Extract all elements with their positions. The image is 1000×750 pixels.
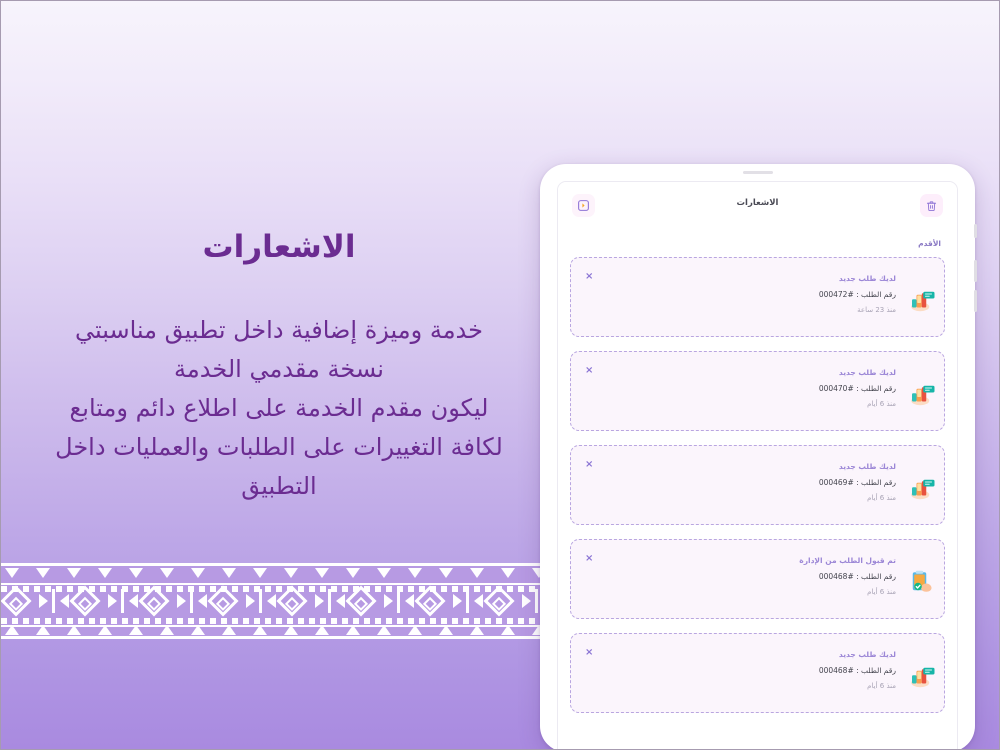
notification-timestamp: منذ 6 أيام: [611, 400, 896, 408]
band-bar: [190, 589, 193, 613]
notification-order-number: رقم الطلب : #000470: [611, 384, 896, 393]
approved-order-art-icon: [906, 567, 936, 597]
dismiss-notification-button[interactable]: ×: [585, 554, 593, 564]
band-triangles-bottom: [1, 620, 557, 635]
band-chevron: [405, 594, 414, 608]
app-header: الاشعارات: [558, 182, 957, 230]
band-chevron: [60, 594, 69, 608]
band-chevron: [336, 594, 345, 608]
slide-description-line: خدمة وميزة إضافية داخل تطبيق مناسبتي: [15, 311, 543, 350]
band-chevron: [267, 594, 276, 608]
front-camera-icon: [743, 171, 773, 174]
notification-title: لديك طلب جديد: [611, 650, 896, 659]
band-rule: [1, 636, 557, 639]
notification-order-number: رقم الطلب : #000468: [611, 666, 896, 675]
notification-timestamp: منذ 6 أيام: [611, 682, 896, 690]
band-chevron: [453, 594, 462, 608]
notification-title: لديك طلب جديد: [611, 274, 896, 283]
band-diamond: [345, 585, 376, 616]
slide-description-line: ليكون مقدم الخدمة على اطلاع دائم ومتابع: [15, 389, 543, 428]
band-chevron: [384, 594, 393, 608]
slide-title: الاشعارات: [1, 229, 557, 265]
dismiss-notification-button[interactable]: ×: [585, 460, 593, 470]
band-bar: [328, 589, 331, 613]
band-chevron: [39, 594, 48, 608]
band-chevron: [246, 594, 255, 608]
band-diamond: [207, 585, 238, 616]
notification-title: لديك طلب جديد: [611, 462, 896, 471]
band-diamond: [414, 585, 445, 616]
notification-order-number: رقم الطلب : #000469: [611, 478, 896, 487]
band-bar: [466, 589, 469, 613]
notification-timestamp: منذ 6 أيام: [611, 494, 896, 502]
notification-card[interactable]: × لديك طلب جديد رقم الطلب : #000472 منذ …: [570, 257, 945, 337]
band-triangles-top: [1, 568, 557, 583]
open-panel-icon: [577, 199, 590, 212]
slide-description: خدمة وميزة إضافية داخل تطبيق مناسبتي نسخ…: [15, 311, 543, 505]
band-bar: [121, 589, 124, 613]
device-button[interactable]: [974, 224, 977, 238]
section-label-older: الأقدم: [918, 239, 941, 248]
slide-description-line: نسخة مقدمي الخدمة: [15, 350, 543, 389]
notification-card[interactable]: × لديك طلب جديد رقم الطلب : #000468 منذ …: [570, 633, 945, 713]
device-volume-down-button[interactable]: [974, 290, 977, 312]
decorative-tribal-band: [1, 563, 557, 639]
notification-body: لديك طلب جديد رقم الطلب : #000470 منذ 6 …: [611, 368, 896, 408]
new-order-art-icon: [906, 379, 936, 409]
slide-description-line: لكافة التغييرات على الطلبات والعمليات دا…: [15, 428, 543, 467]
band-chevron: [108, 594, 117, 608]
slide-description-line: التطبيق: [15, 467, 543, 506]
band-chevron: [198, 594, 207, 608]
notification-order-number: رقم الطلب : #000472: [611, 290, 896, 299]
band-diamond-strip: [1, 587, 557, 617]
notification-card[interactable]: × لديك طلب جديد رقم الطلب : #000470 منذ …: [570, 351, 945, 431]
band-bar: [397, 589, 400, 613]
notification-title: لديك طلب جديد: [611, 368, 896, 377]
band-diamond: [138, 585, 169, 616]
band-chevron: [474, 594, 483, 608]
device-volume-up-button[interactable]: [974, 260, 977, 282]
tablet-device: الاشعارات الأقدم × لديك طلب جديد رقم الط: [540, 164, 975, 750]
dismiss-notification-button[interactable]: ×: [585, 648, 593, 658]
tablet-screen: الاشعارات الأقدم × لديك طلب جديد رقم الط: [557, 181, 958, 750]
notification-list[interactable]: × لديك طلب جديد رقم الطلب : #000472 منذ …: [570, 257, 945, 750]
notification-body: تم قبول الطلب من الإدارة رقم الطلب : #00…: [611, 556, 896, 596]
notification-body: لديك طلب جديد رقم الطلب : #000472 منذ 23…: [611, 274, 896, 314]
notification-card[interactable]: × تم قبول الطلب من الإدارة رقم الطلب : #…: [570, 539, 945, 619]
new-order-art-icon: [906, 473, 936, 503]
notification-order-number: رقم الطلب : #000468: [611, 572, 896, 581]
band-chevron: [129, 594, 138, 608]
band-chevron: [522, 594, 531, 608]
band-diamond: [69, 585, 100, 616]
band-bar: [52, 589, 55, 613]
notification-body: لديك طلب جديد رقم الطلب : #000468 منذ 6 …: [611, 650, 896, 690]
notification-card[interactable]: × لديك طلب جديد رقم الطلب : #000469 منذ …: [570, 445, 945, 525]
band-chevron: [315, 594, 324, 608]
notification-timestamp: منذ 6 أيام: [611, 588, 896, 596]
band-rule: [1, 563, 557, 566]
band-chevron: [177, 594, 186, 608]
band-diamond: [483, 585, 514, 616]
new-order-art-icon: [906, 661, 936, 691]
dismiss-notification-button[interactable]: ×: [585, 272, 593, 282]
band-bar: [535, 589, 538, 613]
presentation-slide: الاشعارات خدمة وميزة إضافية داخل تطبيق م…: [0, 0, 1000, 750]
band-diamond: [1, 585, 32, 616]
notification-settings-button[interactable]: [572, 194, 595, 217]
new-order-art-icon: [906, 285, 936, 315]
dismiss-notification-button[interactable]: ×: [585, 366, 593, 376]
app-page-title: الاشعارات: [558, 198, 957, 208]
band-diamond: [276, 585, 307, 616]
notification-timestamp: منذ 23 ساعة: [611, 306, 896, 314]
notification-title: تم قبول الطلب من الإدارة: [611, 556, 896, 565]
notification-body: لديك طلب جديد رقم الطلب : #000469 منذ 6 …: [611, 462, 896, 502]
band-bar: [259, 589, 262, 613]
